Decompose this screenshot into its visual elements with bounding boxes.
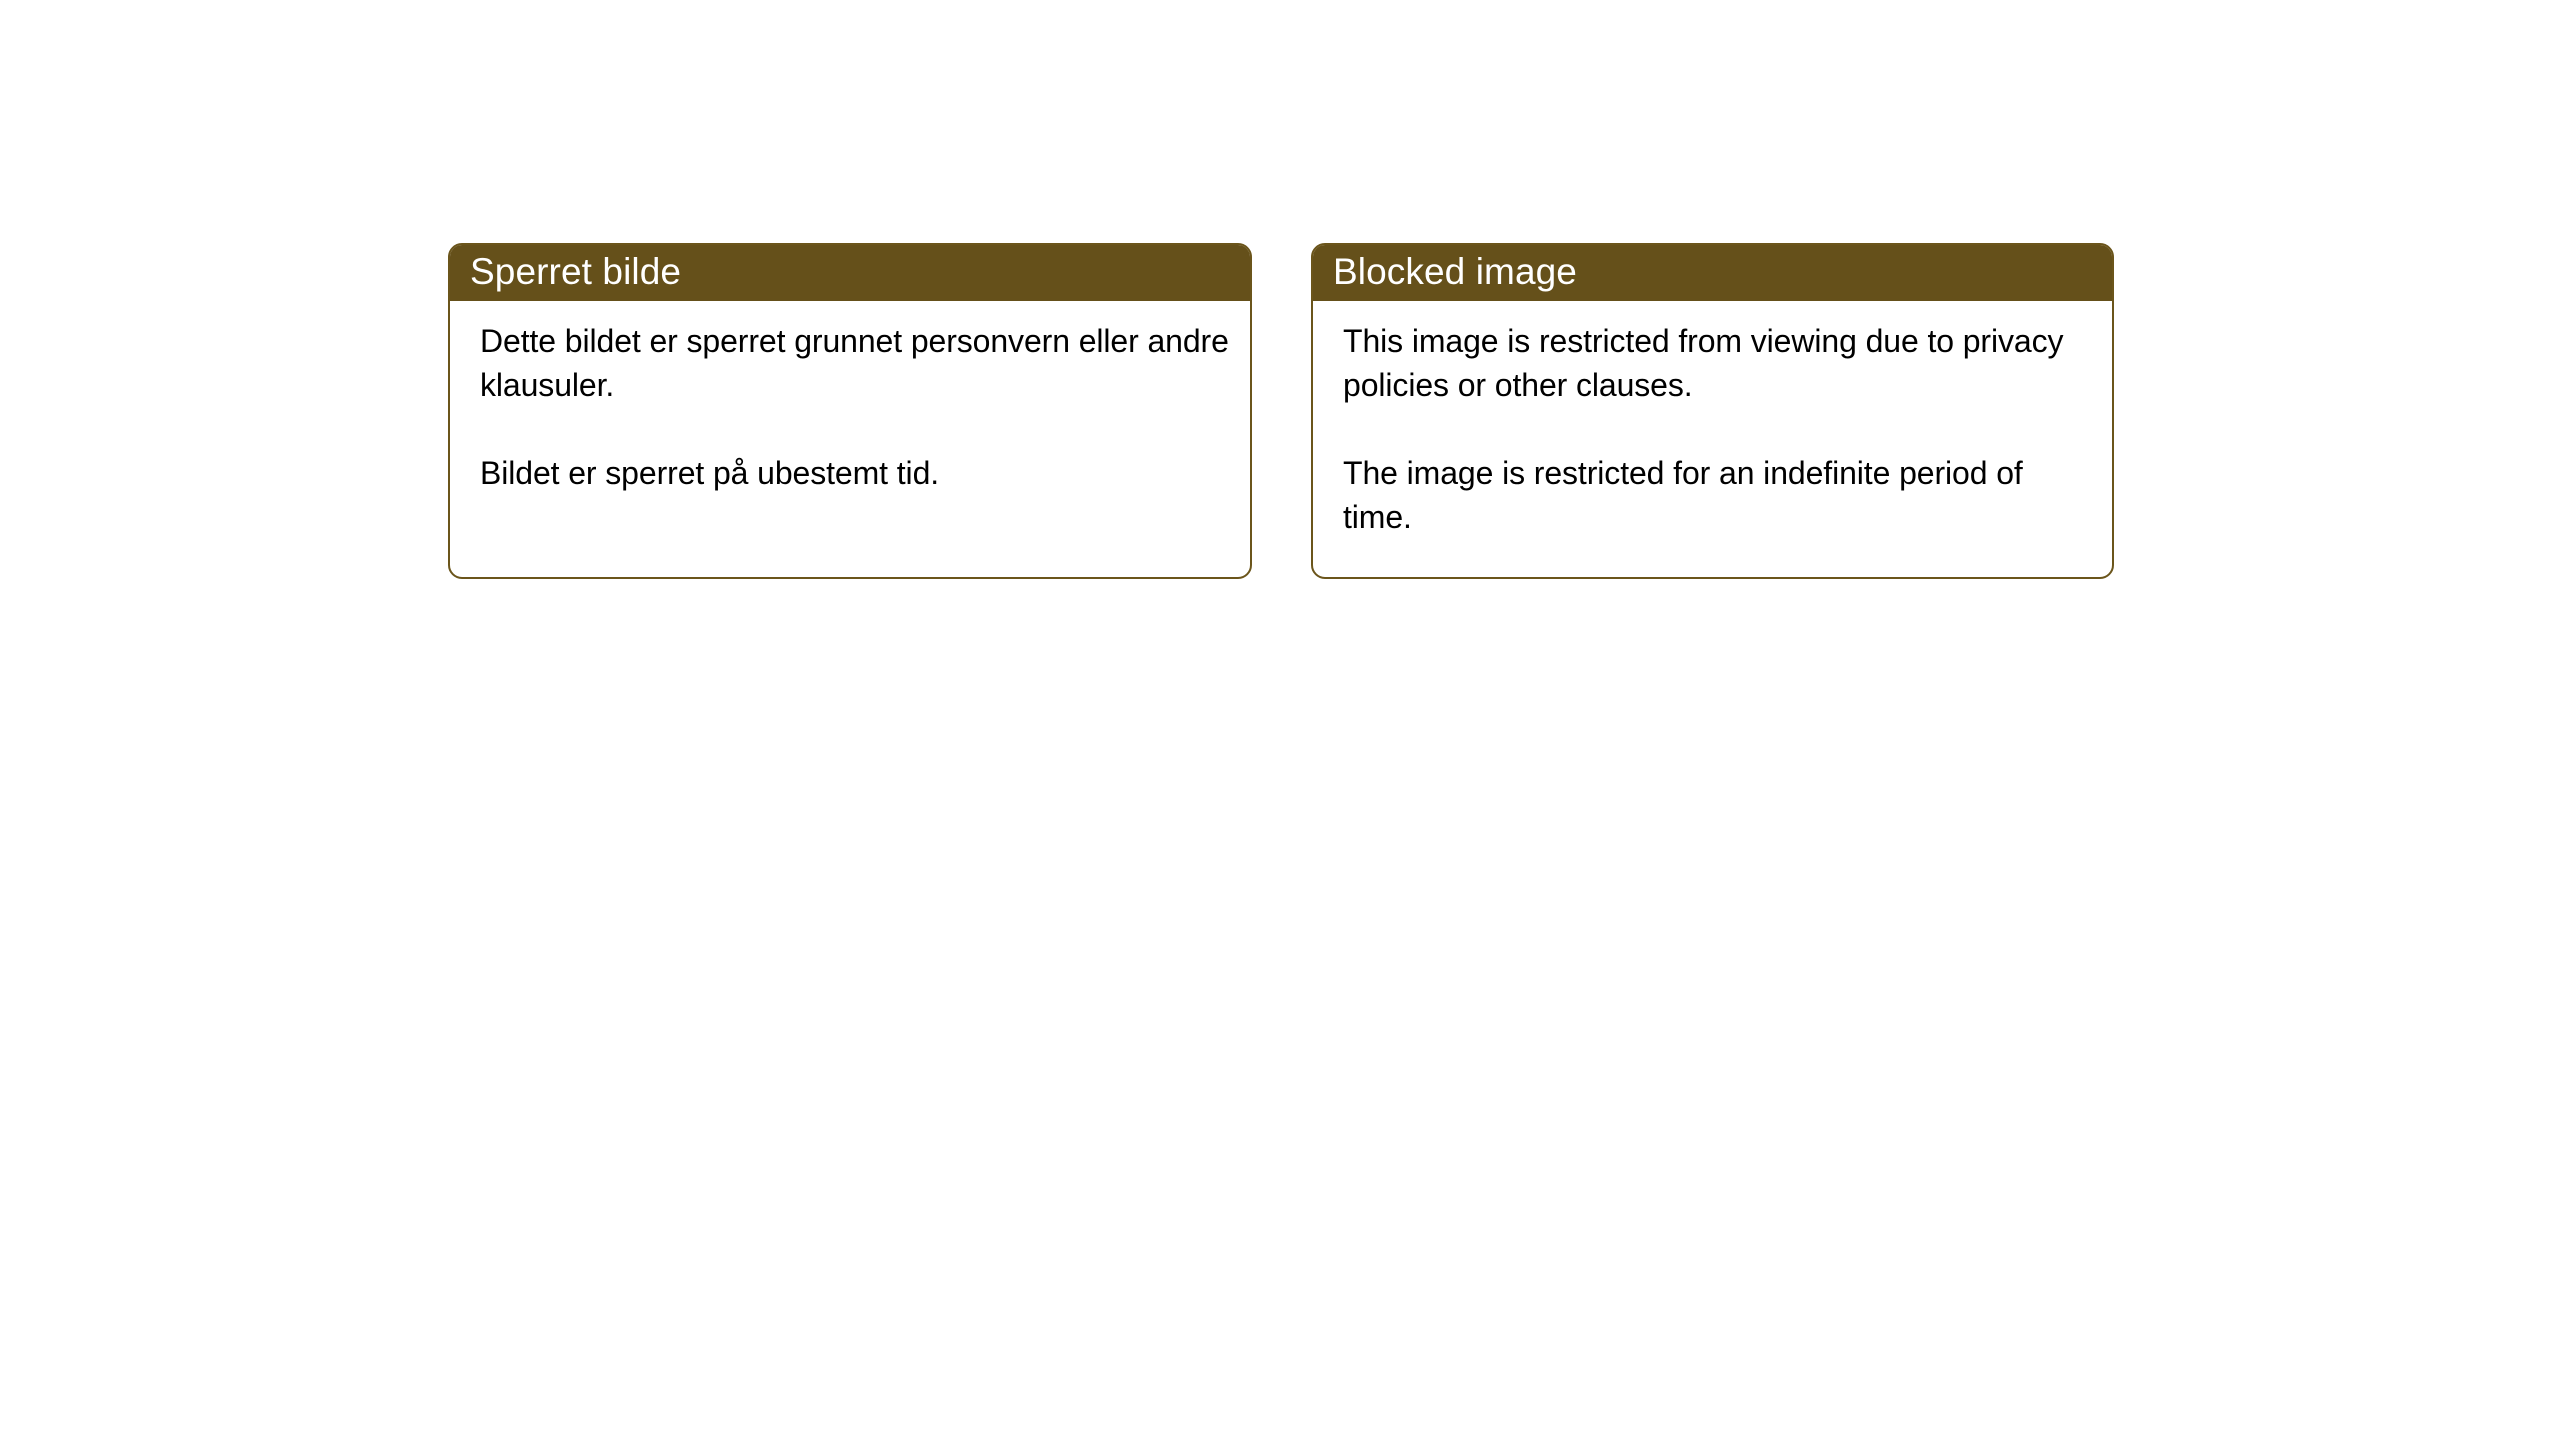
page-canvas: Sperret bilde Dette bildet er sperret gr… (0, 0, 2560, 1440)
blocked-image-notice-card-norwegian: Sperret bilde Dette bildet er sperret gr… (448, 243, 1252, 579)
card-title-english: Blocked image (1333, 250, 1577, 294)
card-paragraph-primary-norwegian: Dette bildet er sperret grunnet personve… (480, 319, 1230, 407)
card-header-english: Blocked image (1311, 243, 2114, 301)
card-paragraph-primary-english: This image is restricted from viewing du… (1343, 319, 2092, 407)
paragraph-spacer (480, 407, 1230, 451)
card-paragraph-secondary-english: The image is restricted for an indefinit… (1343, 451, 2092, 539)
card-body-english: This image is restricted from viewing du… (1313, 301, 2112, 539)
card-header-norwegian: Sperret bilde (448, 243, 1252, 301)
card-title-norwegian: Sperret bilde (470, 250, 681, 294)
card-body-norwegian: Dette bildet er sperret grunnet personve… (450, 301, 1250, 495)
blocked-image-notice-card-english: Blocked image This image is restricted f… (1311, 243, 2114, 579)
paragraph-spacer (1343, 407, 2092, 451)
card-paragraph-secondary-norwegian: Bildet er sperret på ubestemt tid. (480, 451, 1230, 495)
